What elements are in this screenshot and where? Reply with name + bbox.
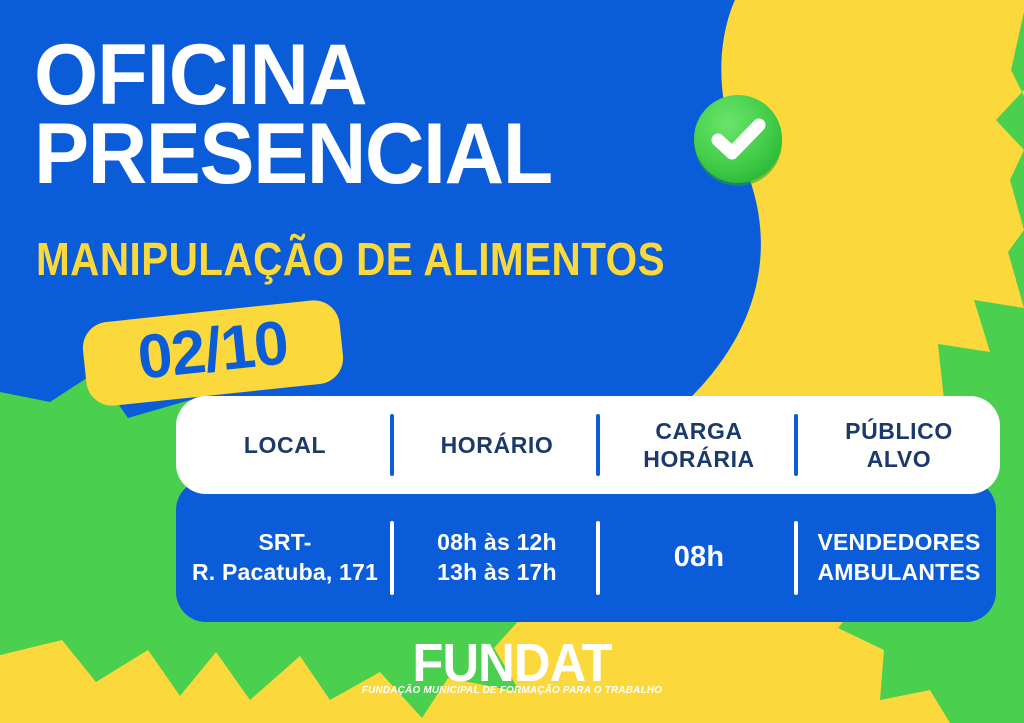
table-cell-horario: 08h às 12h 13h às 17h [394,528,600,588]
table-header-cell-publico-alvo: PÚBLICO ALVO [798,417,1000,473]
date-badge-label: 02/10 [135,312,291,389]
cell-horario-line-2: 13h às 17h [394,558,600,588]
cell-local-line-2: R. Pacatuba, 171 [176,558,394,588]
cell-local-line-1: SRT- [176,528,394,558]
header-label-carga-line-2: HORÁRIA [600,445,798,473]
logo-tagline: FUNDAÇÃO MUNICIPAL DE FORMAÇÃO PARA O TR… [26,685,999,696]
table-cell-publico-alvo: VENDEDORES AMBULANTES [798,528,1000,588]
table-cell-local: SRT- R. Pacatuba, 171 [176,528,394,588]
logo-wordmark: FUNDAT [31,636,994,690]
headline-line-2: PRESENCIAL [34,115,706,194]
cell-publico-line-2: AMBULANTES [798,558,1000,588]
header-label-publico-line-2: ALVO [798,445,1000,473]
headline-line-1: OFICINA [34,36,706,115]
header-label-horario-line-1: HORÁRIO [394,431,600,459]
header-label-carga-line-1: CARGA [600,417,798,445]
table-cell-carga-horaria: 08h [600,539,798,577]
header-label-publico-line-1: PÚBLICO [798,417,1000,445]
table-header-row: LOCAL HORÁRIO CARGA HORÁRIA PÚBLICO ALVO [176,396,1000,494]
table-data-row: SRT- R. Pacatuba, 171 08h às 12h 13h às … [176,480,996,622]
fundat-logo: FUNDAT FUNDAÇÃO MUNICIPAL DE FORMAÇÃO PA… [0,636,1024,696]
info-table: LOCAL HORÁRIO CARGA HORÁRIA PÚBLICO ALVO… [176,396,1000,622]
check-circle-icon [688,90,788,190]
header-label-local-line-1: LOCAL [176,431,394,459]
table-header-cell-horario: HORÁRIO [394,431,600,459]
subtitle-text: MANIPULAÇÃO DE ALIMENTOS [36,236,665,282]
headline-block: OFICINA PRESENCIAL [34,36,734,194]
cell-publico-line-1: VENDEDORES [798,528,1000,558]
cell-horario-line-1: 08h às 12h [394,528,600,558]
cell-carga-line-1: 08h [600,539,798,577]
table-header-cell-carga-horaria: CARGA HORÁRIA [600,417,798,473]
poster-canvas: OFICINA PRESENCIAL MANIPULAÇÃO DE ALIMEN… [0,0,1024,723]
table-header-cell-local: LOCAL [176,431,394,459]
